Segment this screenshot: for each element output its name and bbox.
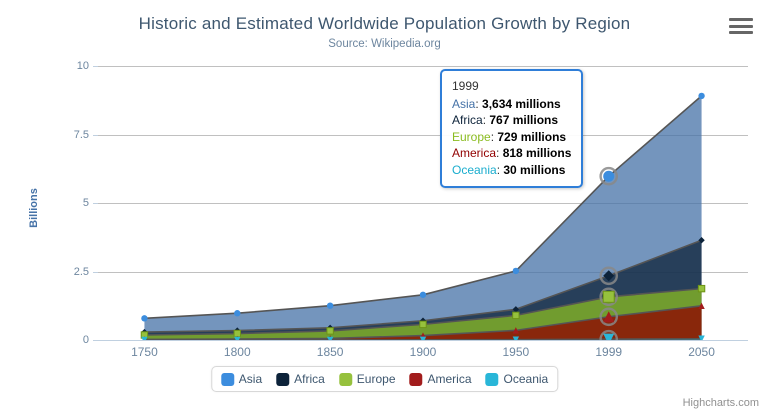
marker-asia[interactable] bbox=[141, 315, 147, 321]
legend-label: Oceania bbox=[504, 372, 549, 386]
tooltip-row: Oceania: 30 millions bbox=[452, 162, 571, 179]
tooltip: 1999 Asia: 3,634 millionsAfrica: 767 mil… bbox=[440, 69, 583, 188]
tooltip-series-name: America bbox=[452, 146, 496, 160]
series-canvas bbox=[98, 66, 748, 340]
tooltip-value: 767 millions bbox=[489, 113, 558, 127]
tooltip-header: 1999 bbox=[452, 78, 571, 96]
legend-item-america[interactable]: America bbox=[410, 372, 472, 386]
x-axis-line bbox=[98, 340, 748, 341]
legend-swatch-icon bbox=[276, 373, 289, 386]
x-axis-label: 1750 bbox=[131, 345, 158, 359]
tooltip-series-name: Asia bbox=[452, 97, 475, 111]
marker-europe[interactable] bbox=[698, 285, 704, 291]
tooltip-separator: : bbox=[496, 146, 503, 160]
tooltip-value: 30 millions bbox=[503, 163, 565, 177]
x-axis-label: 1850 bbox=[317, 345, 344, 359]
legend-swatch-icon bbox=[410, 373, 423, 386]
tooltip-value: 729 millions bbox=[497, 130, 566, 144]
tooltip-row: Asia: 3,634 millions bbox=[452, 96, 571, 113]
tooltip-row: America: 818 millions bbox=[452, 145, 571, 162]
tooltip-series-name: Africa bbox=[452, 113, 483, 127]
legend-item-asia[interactable]: Asia bbox=[221, 372, 262, 386]
credits-label[interactable]: Highcharts.com bbox=[683, 397, 759, 409]
plot-area[interactable] bbox=[98, 66, 748, 340]
marker-europe[interactable] bbox=[327, 328, 333, 334]
legend-label: Asia bbox=[239, 372, 262, 386]
marker-asia[interactable] bbox=[513, 268, 519, 274]
tooltip-rows: Asia: 3,634 millionsAfrica: 767 millions… bbox=[452, 96, 571, 179]
chart-subtitle: Source: Wikipedia.org bbox=[0, 38, 769, 50]
tooltip-row: Africa: 767 millions bbox=[452, 112, 571, 129]
tooltip-separator: : bbox=[475, 97, 482, 111]
legend-label: Europe bbox=[357, 372, 396, 386]
x-axis-label: 1800 bbox=[224, 345, 251, 359]
marker-asia[interactable] bbox=[327, 302, 333, 308]
highcharts-container: Historic and Estimated Worldwide Populat… bbox=[0, 0, 769, 416]
legend-swatch-icon bbox=[486, 373, 499, 386]
tooltip-row: Europe: 729 millions bbox=[452, 129, 571, 146]
x-axis-label: 2050 bbox=[688, 345, 715, 359]
tooltip-value: 818 millions bbox=[503, 146, 572, 160]
legend-label: Africa bbox=[294, 372, 325, 386]
legend-label: America bbox=[428, 372, 472, 386]
legend[interactable]: AsiaAfricaEuropeAmericaOceania bbox=[211, 366, 558, 392]
y-axis-label: 5 bbox=[29, 197, 89, 209]
marker-europe[interactable] bbox=[513, 312, 519, 318]
y-axis-label: 7.5 bbox=[29, 129, 89, 141]
legend-item-oceania[interactable]: Oceania bbox=[486, 372, 549, 386]
chart-title: Historic and Estimated Worldwide Populat… bbox=[0, 14, 769, 34]
legend-swatch-icon bbox=[339, 373, 352, 386]
legend-item-europe[interactable]: Europe bbox=[339, 372, 396, 386]
y-axis-label: 10 bbox=[29, 60, 89, 72]
marker-asia[interactable] bbox=[698, 93, 704, 99]
marker-europe[interactable] bbox=[420, 321, 426, 327]
y-axis-label: 0 bbox=[29, 334, 89, 346]
legend-swatch-icon bbox=[221, 373, 234, 386]
marker-asia[interactable] bbox=[234, 310, 240, 316]
tooltip-series-name: Europe bbox=[452, 130, 491, 144]
marker-europe[interactable] bbox=[601, 289, 617, 305]
tooltip-value: 3,634 millions bbox=[482, 97, 561, 111]
marker-asia[interactable] bbox=[420, 292, 426, 298]
tooltip-series-name: Oceania bbox=[452, 163, 497, 177]
x-axis-label: 1999 bbox=[595, 345, 622, 359]
x-axis-label: 1950 bbox=[502, 345, 529, 359]
y-axis-label: 2.5 bbox=[29, 266, 89, 278]
hamburger-menu-icon[interactable] bbox=[729, 17, 753, 35]
legend-item-africa[interactable]: Africa bbox=[276, 372, 325, 386]
x-axis-label: 1900 bbox=[410, 345, 437, 359]
marker-europe[interactable] bbox=[234, 330, 240, 336]
